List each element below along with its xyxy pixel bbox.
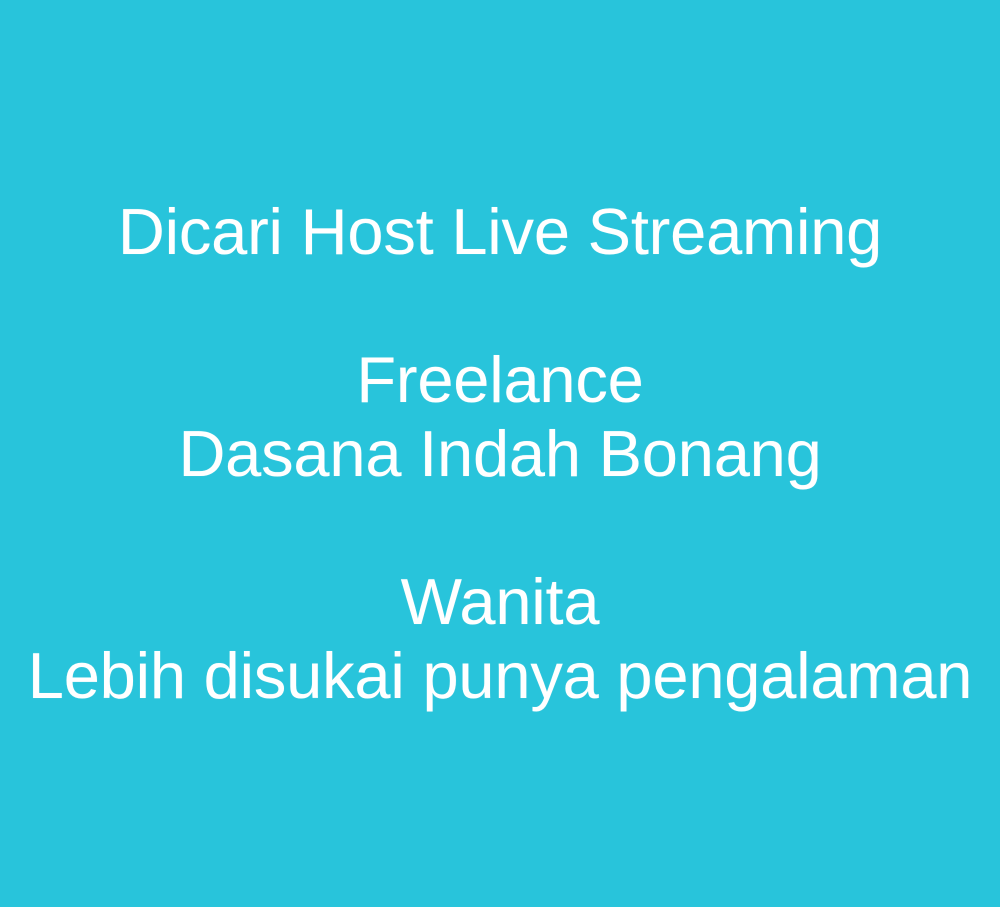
requirements-line-2: Lebih disukai punya pengalaman xyxy=(0,639,1000,713)
employment-details-block: Freelance Dasana Indah Bonang xyxy=(0,343,1000,491)
block-spacer-2 xyxy=(0,491,1000,565)
headline-block: Dicari Host Live Streaming xyxy=(0,195,1000,269)
poster-text-stack: Dicari Host Live Streaming Freelance Das… xyxy=(0,195,1000,713)
requirements-line-1: Wanita xyxy=(0,565,1000,639)
requirements-block: Wanita Lebih disukai punya pengalaman xyxy=(0,565,1000,713)
poster-canvas: Dicari Host Live Streaming Freelance Das… xyxy=(0,0,1000,907)
block-spacer-1 xyxy=(0,269,1000,343)
headline-line-1: Dicari Host Live Streaming xyxy=(0,195,1000,269)
employment-line-2: Dasana Indah Bonang xyxy=(0,417,1000,491)
employment-line-1: Freelance xyxy=(0,343,1000,417)
